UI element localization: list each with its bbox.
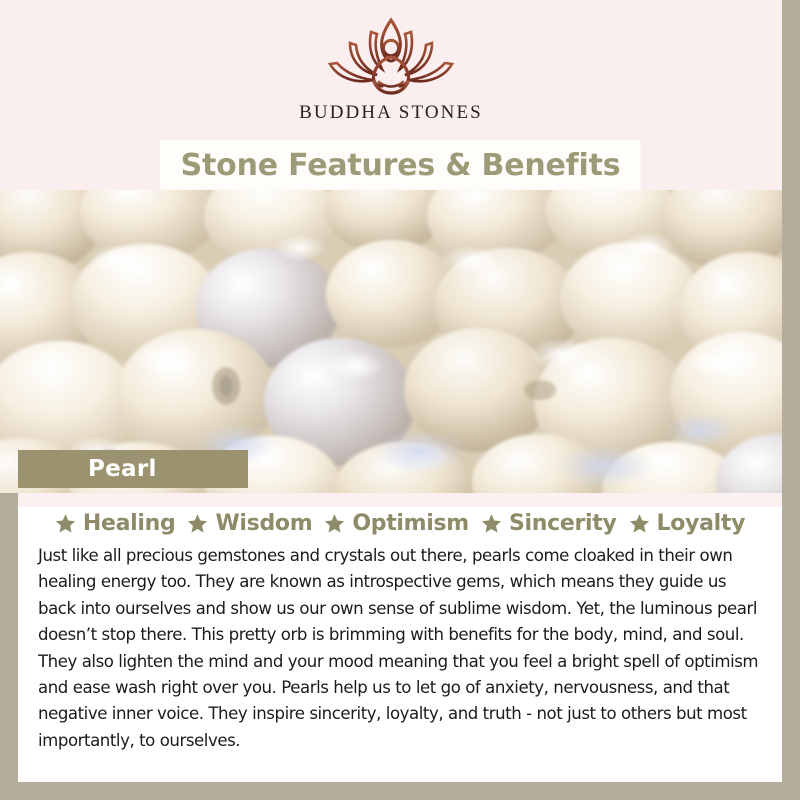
pearl-photo [0, 190, 782, 493]
benefit-item-loyalty: Loyalty [629, 511, 746, 536]
benefit-label: Healing [83, 511, 176, 536]
benefits-list: Healing Wisdom Optimism Sincerity [18, 511, 782, 536]
page-title: Stone Features & Benefits [181, 148, 621, 183]
stone-name: Pearl [88, 456, 157, 482]
benefit-item-optimism: Optimism [324, 511, 469, 536]
benefit-item-wisdom: Wisdom [187, 511, 312, 536]
benefit-label: Loyalty [657, 511, 746, 536]
star-icon [481, 513, 502, 534]
benefit-item-sincerity: Sincerity [481, 511, 617, 536]
infographic-page: BUDDHA STONES Stone Features & Benefits [0, 0, 800, 800]
brand-name: BUDDHA STONES [299, 102, 483, 124]
benefit-label: Wisdom [215, 511, 312, 536]
pearl-photo-image [0, 190, 782, 493]
brand-logo: BUDDHA STONES [0, 14, 782, 134]
star-icon [324, 513, 345, 534]
benefit-label: Sincerity [509, 511, 617, 536]
stone-description: Just like all precious gemstones and cry… [38, 543, 766, 754]
benefit-label: Optimism [352, 511, 469, 536]
star-icon [187, 513, 208, 534]
panel-top-tint [18, 493, 782, 507]
content-panel: Healing Wisdom Optimism Sincerity [18, 493, 782, 782]
benefit-item-healing: Healing [55, 511, 176, 536]
page-title-banner: Stone Features & Benefits [161, 141, 640, 189]
stone-name-banner: Pearl [18, 450, 248, 488]
star-icon [55, 513, 76, 534]
star-icon [629, 513, 650, 534]
lotus-meditation-figure-icon [316, 14, 466, 100]
